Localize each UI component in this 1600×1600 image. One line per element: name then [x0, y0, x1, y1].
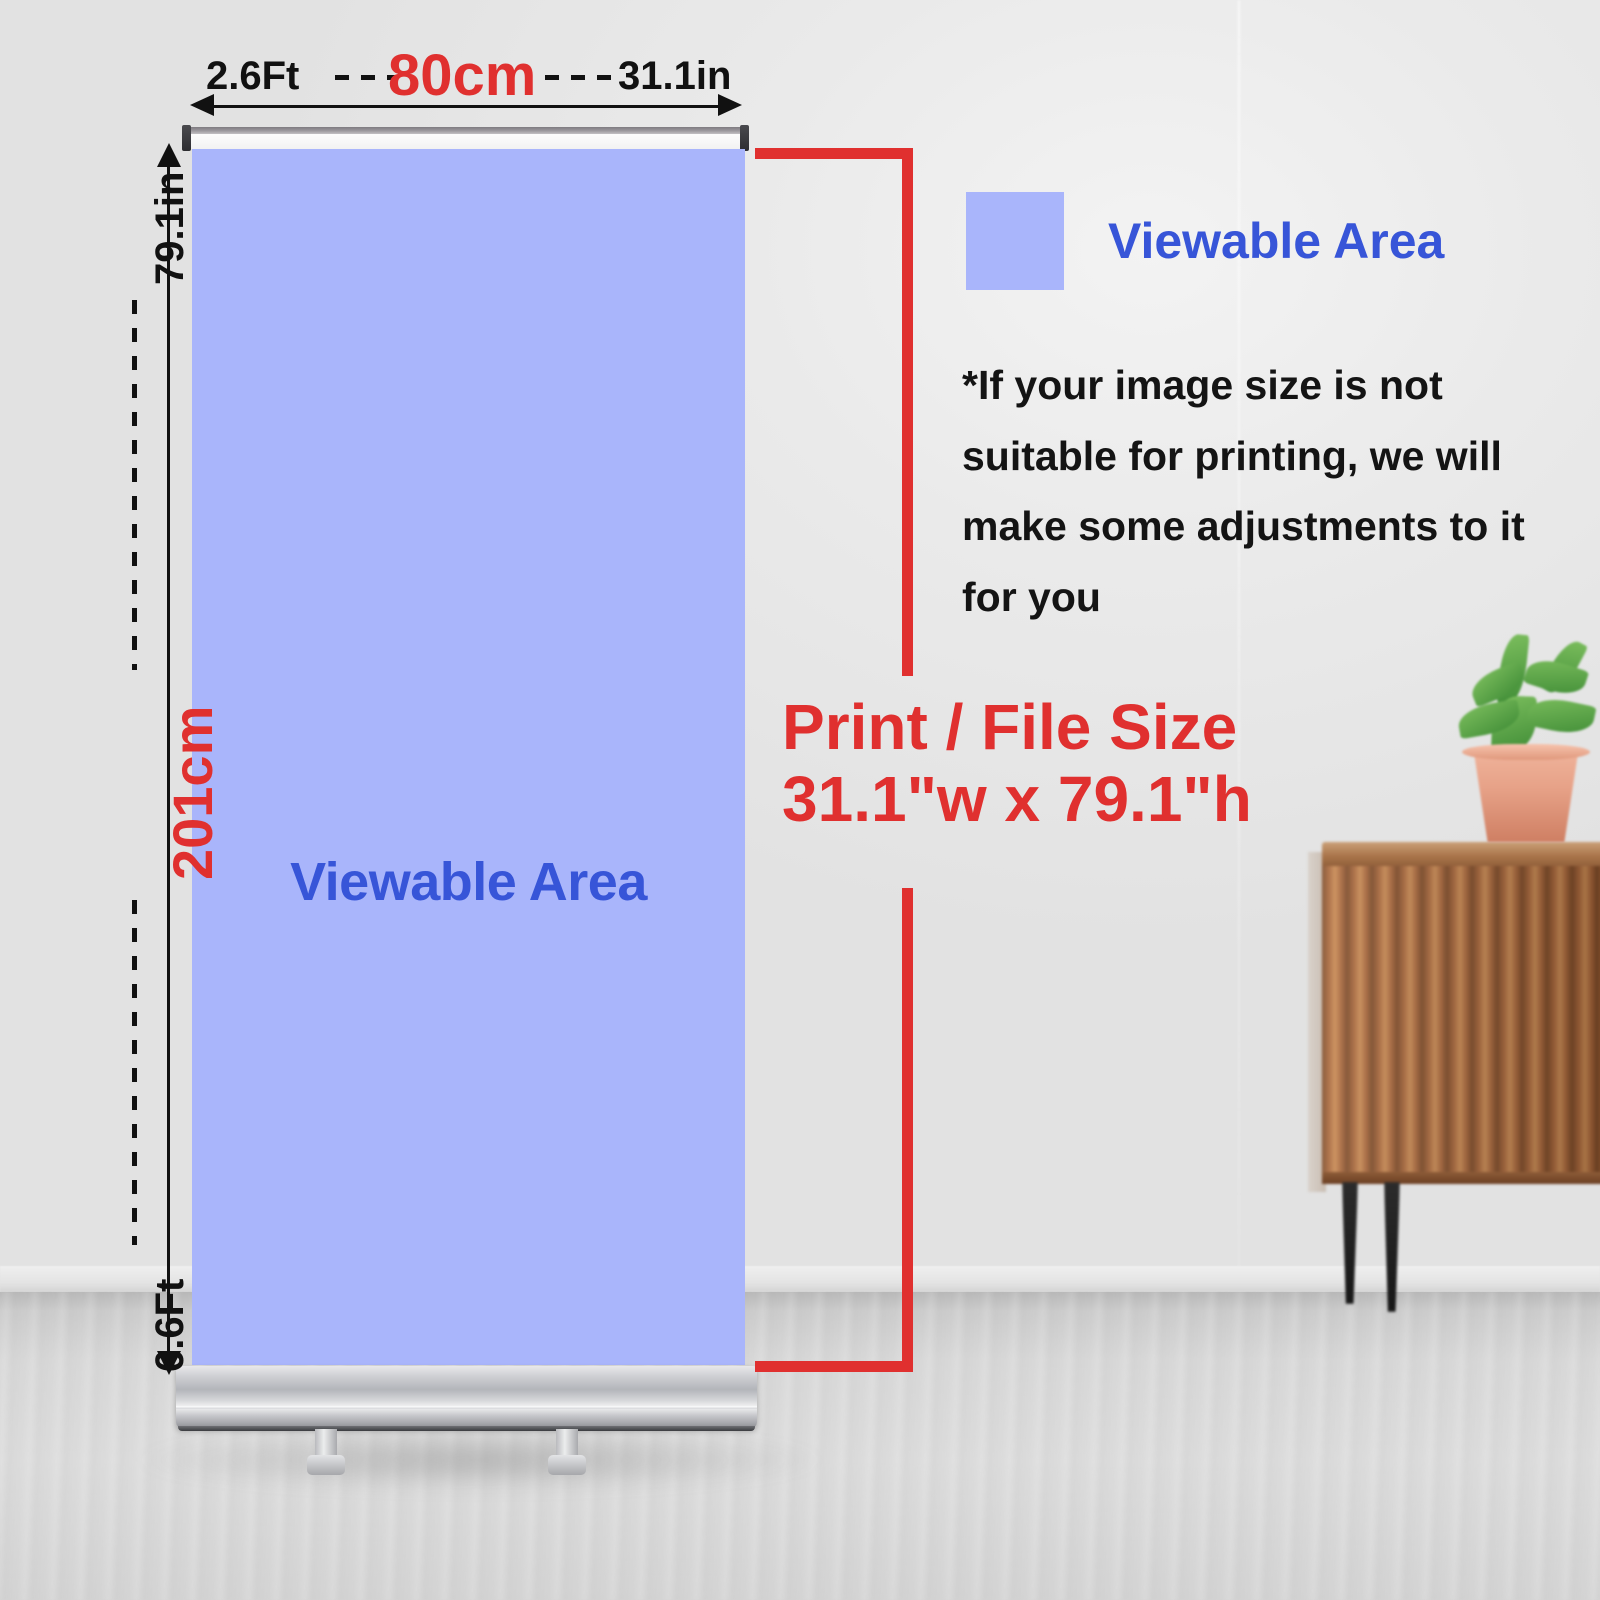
- sideboard-slatted-front: [1322, 866, 1600, 1178]
- note-line-2: suitable for printing, we will: [962, 421, 1562, 492]
- height-label-feet: 6.6Ft: [148, 1279, 193, 1372]
- banner-top-white-margin: [190, 134, 745, 149]
- banner-base-foot: [548, 1429, 586, 1475]
- banner-viewable-area-label: Viewable Area: [192, 851, 745, 913]
- print-size-title: Print / File Size: [782, 692, 1252, 764]
- banner-base-seam: [176, 1406, 757, 1409]
- sideboard-plinth: [1322, 1172, 1600, 1184]
- banner-base-underside: [178, 1426, 755, 1431]
- height-label-inches: 79.1in: [148, 172, 193, 285]
- legend-label: Viewable Area: [1108, 212, 1444, 270]
- plant-pot-rim: [1462, 744, 1590, 760]
- bracket-bottom-arm: [755, 1361, 913, 1372]
- sideboard-furniture: [1322, 842, 1600, 1194]
- bracket-right-lower: [902, 888, 913, 1372]
- note-line-4: for you: [962, 562, 1562, 633]
- plant-pot: [1466, 748, 1586, 842]
- legend-color-swatch: [966, 192, 1064, 290]
- note-line-3: make some adjustments to it: [962, 491, 1562, 562]
- bracket-top-arm: [755, 148, 913, 159]
- bracket-right-upper: [902, 148, 913, 676]
- width-label-cm: 80cm: [388, 42, 536, 109]
- potted-plant: [1448, 628, 1600, 848]
- banner-base-foot: [307, 1429, 345, 1475]
- mockup-scene: Viewable Area 2.6Ft 80cm 31.1in 79.1in 2…: [0, 0, 1600, 1600]
- banner-rail-end-cap-left: [182, 125, 191, 151]
- banner-foot-pad: [548, 1455, 586, 1475]
- banner-foot-pad: [307, 1455, 345, 1475]
- height-label-cm: 201cm: [160, 706, 225, 880]
- height-dash-lower: [132, 900, 137, 1245]
- print-file-size-callout: Print / File Size 31.1"w x 79.1"h: [782, 692, 1252, 835]
- height-dash-upper: [132, 300, 137, 670]
- print-size-value: 31.1"w x 79.1"h: [782, 764, 1252, 836]
- width-label-feet: 2.6Ft: [206, 54, 299, 99]
- width-label-inches: 31.1in: [618, 54, 731, 99]
- banner-viewable-area: Viewable Area: [192, 149, 745, 1365]
- banner-floor-shadow: [140, 1430, 820, 1490]
- banner-base-cassette: [176, 1366, 757, 1428]
- note-line-1: *If your image size is not: [962, 350, 1562, 421]
- legend: Viewable Area: [966, 192, 1444, 290]
- dimension-dash-left: [335, 75, 395, 80]
- printing-note: *If your image size is not suitable for …: [962, 350, 1562, 632]
- banner-rail-end-cap-right: [740, 125, 749, 151]
- dimension-dash-right: [545, 75, 615, 80]
